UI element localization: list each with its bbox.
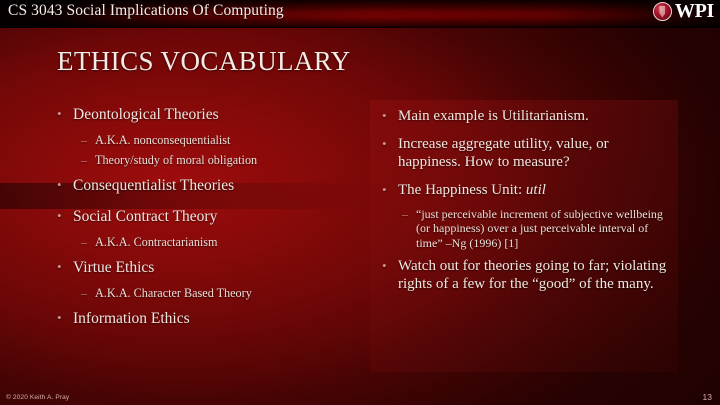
bullet-marker-icon: • [57, 208, 73, 225]
bullet-marker-icon: • [382, 108, 398, 125]
slide-header-bar: CS 3043 Social Implications Of Computing… [0, 0, 720, 28]
presentation-slide: CS 3043 Social Implications Of Computing… [0, 0, 720, 405]
bullet-text: Information Ethics [73, 310, 362, 328]
right-content-panel: • Main example is Utilitarianism. • Incr… [370, 100, 678, 372]
dash-marker-icon: – [402, 207, 416, 222]
bullet-text: Deontological Theories [73, 106, 362, 124]
right-bullet-column: • Main example is Utilitarianism. • Incr… [382, 108, 668, 304]
sub-bullet-text: Theory/study of moral obligation [95, 153, 362, 168]
bullet-item-highlighted: • Consequentialist Theories [57, 177, 362, 195]
bullet-marker-icon: • [57, 259, 73, 276]
footer-copyright: © 2020 Keith A. Pray [6, 394, 69, 401]
wpi-logo: WPI [653, 1, 714, 21]
bullet-marker-icon: • [57, 177, 73, 194]
wpi-seal-icon [653, 2, 672, 21]
wpi-logo-text: WPI [675, 1, 714, 21]
bullet-marker-icon: • [57, 106, 73, 123]
bullet-item: • Information Ethics [57, 310, 362, 328]
bullet-item-happiness-unit: • The Happiness Unit: util [382, 182, 668, 199]
course-title: CS 3043 Social Implications Of Computing [8, 2, 284, 20]
bullet-marker-icon: • [57, 310, 73, 327]
slide-page-number: 13 [703, 392, 712, 402]
bullet-text: Virtue Ethics [73, 259, 362, 277]
bullet-item: • Virtue Ethics [57, 259, 362, 277]
slide-title: ETHICS VOCABULARY [57, 46, 351, 77]
bullet-item: • Social Contract Theory [57, 208, 362, 226]
dash-marker-icon: – [81, 133, 95, 148]
bullet-item: • Increase aggregate utility, value, or … [382, 136, 668, 171]
bullet-text: Increase aggregate utility, value, or ha… [398, 136, 668, 171]
dash-marker-icon: – [81, 286, 95, 301]
dash-marker-icon: – [81, 153, 95, 168]
bullet-item: • Watch out for theories going to far; v… [382, 258, 668, 293]
sub-bullet-item: – A.K.A. Contractarianism [57, 235, 362, 250]
sub-bullet-item: – A.K.A. nonconsequentialist [57, 133, 362, 148]
sub-bullet-item: – Theory/study of moral obligation [57, 153, 362, 168]
bullet-marker-icon: • [382, 136, 398, 153]
dash-marker-icon: – [81, 235, 95, 250]
bullet-text-italic: util [526, 182, 546, 198]
sub-bullet-quote: – “just perceivable increment of subject… [382, 207, 668, 251]
sub-bullet-text: A.K.A. Contractarianism [95, 235, 362, 250]
sub-bullet-item: – A.K.A. Character Based Theory [57, 286, 362, 301]
bullet-marker-icon: • [382, 258, 398, 275]
bullet-text-plain: The Happiness Unit: [398, 182, 526, 198]
bullet-marker-icon: • [382, 182, 398, 199]
bullet-item: • Main example is Utilitarianism. [382, 108, 668, 125]
bullet-item: • Deontological Theories [57, 106, 362, 124]
sub-bullet-text: A.K.A. nonconsequentialist [95, 133, 362, 148]
bullet-text: Main example is Utilitarianism. [398, 108, 668, 125]
bullet-text: Social Contract Theory [73, 208, 362, 226]
bullet-text: The Happiness Unit: util [398, 182, 668, 199]
left-bullet-column: • Deontological Theories – A.K.A. noncon… [57, 106, 362, 337]
bullet-text: Consequentialist Theories [73, 177, 362, 195]
sub-bullet-text: A.K.A. Character Based Theory [95, 286, 362, 301]
bullet-text: Watch out for theories going to far; vio… [398, 258, 668, 293]
sub-bullet-text: “just perceivable increment of subjectiv… [416, 207, 668, 251]
